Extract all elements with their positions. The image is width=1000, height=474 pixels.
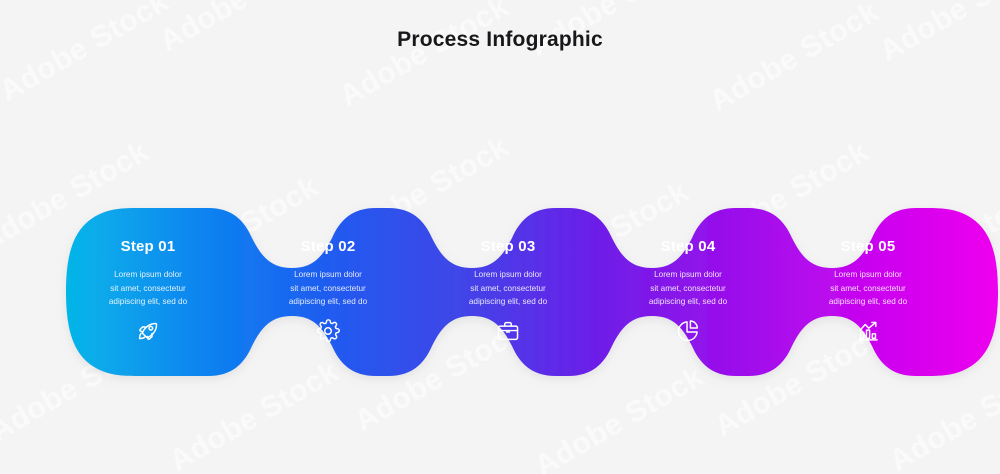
step-title: Step 03 — [420, 239, 596, 254]
step-description: Lorem ipsum dolor sit amet, consectetur … — [420, 268, 596, 309]
step-card-02[interactable]: Step 02 Lorem ipsum dolor sit amet, cons… — [240, 208, 416, 376]
step-description-line: adipiscing elit, sed do — [614, 295, 762, 309]
page-title: Process Infographic — [0, 28, 1000, 52]
step-card-01[interactable]: Step 01 Lorem ipsum dolor sit amet, cons… — [60, 208, 236, 376]
step-title: Step 05 — [780, 239, 956, 254]
step-description-line: Lorem ipsum dolor — [794, 268, 942, 282]
gear-icon — [240, 318, 416, 344]
pie-chart-icon — [600, 318, 776, 344]
step-description: Lorem ipsum dolor sit amet, consectetur … — [60, 268, 236, 309]
rocket-icon — [60, 318, 236, 344]
step-description-line: sit amet, consectetur — [74, 282, 222, 296]
step-description-line: adipiscing elit, sed do — [74, 295, 222, 309]
step-description-line: adipiscing elit, sed do — [254, 295, 402, 309]
step-title: Step 01 — [60, 239, 236, 254]
step-card-05[interactable]: Step 05 Lorem ipsum dolor sit amet, cons… — [780, 208, 956, 376]
briefcase-icon — [420, 318, 596, 344]
step-description-line: adipiscing elit, sed do — [434, 295, 582, 309]
bar-chart-growth-icon — [780, 318, 956, 344]
step-title: Step 02 — [240, 239, 416, 254]
step-description-line: Lorem ipsum dolor — [74, 268, 222, 282]
infographic-canvas: Adobe Stock Adobe Stock Adobe Stock Adob… — [0, 0, 1000, 474]
step-description: Lorem ipsum dolor sit amet, consectetur … — [240, 268, 416, 309]
step-description-line: Lorem ipsum dolor — [614, 268, 762, 282]
step-description-line: sit amet, consectetur — [434, 282, 582, 296]
step-description-line: sit amet, consectetur — [614, 282, 762, 296]
step-description-line: adipiscing elit, sed do — [794, 295, 942, 309]
step-card-04[interactable]: Step 04 Lorem ipsum dolor sit amet, cons… — [600, 208, 776, 376]
step-description-line: Lorem ipsum dolor — [434, 268, 582, 282]
step-description-line: sit amet, consectetur — [794, 282, 942, 296]
step-description: Lorem ipsum dolor sit amet, consectetur … — [780, 268, 956, 309]
step-description: Lorem ipsum dolor sit amet, consectetur … — [600, 268, 776, 309]
step-description-line: sit amet, consectetur — [254, 282, 402, 296]
step-card-03[interactable]: Step 03 Lorem ipsum dolor sit amet, cons… — [420, 208, 596, 376]
step-description-line: Lorem ipsum dolor — [254, 268, 402, 282]
step-title: Step 04 — [600, 239, 776, 254]
steps-layer: Step 01 Lorem ipsum dolor sit amet, cons… — [0, 0, 1000, 474]
